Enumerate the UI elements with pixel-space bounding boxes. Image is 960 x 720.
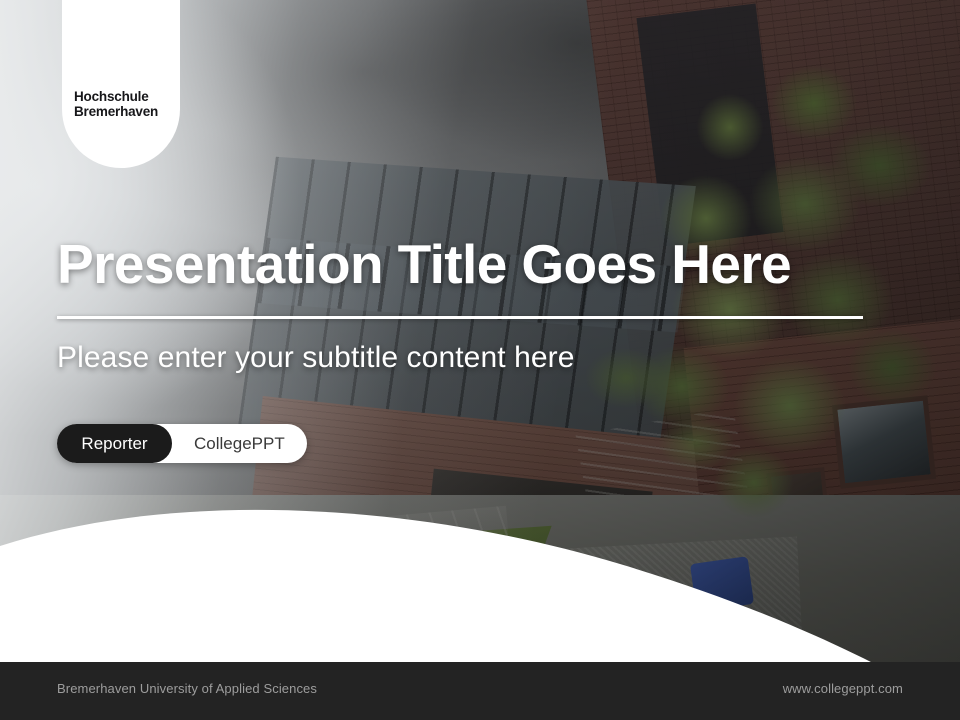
logo-line-1: Hochschule bbox=[74, 89, 174, 105]
page-subtitle: Please enter your subtitle content here bbox=[57, 341, 907, 375]
title-divider bbox=[57, 316, 863, 319]
title-block: Presentation Title Goes Here Please ente… bbox=[57, 236, 907, 375]
reporter-name-label[interactable]: CollegePPT bbox=[172, 424, 307, 463]
logo-wordmark: Hochschule Bremerhaven bbox=[74, 89, 174, 120]
presentation-slide: Hochschule Bremerhaven Presentation Titl… bbox=[0, 0, 960, 720]
footer-bar: Bremerhaven University of Applied Scienc… bbox=[0, 662, 960, 720]
reporter-badge[interactable]: Reporter CollegePPT bbox=[57, 424, 307, 463]
logo-line-2: Bremerhaven bbox=[74, 104, 174, 120]
university-logo: Hochschule Bremerhaven bbox=[62, 0, 180, 168]
footer-website[interactable]: www.collegeppt.com bbox=[783, 681, 903, 696]
footer-institution: Bremerhaven University of Applied Scienc… bbox=[57, 681, 317, 696]
page-title: Presentation Title Goes Here bbox=[57, 236, 907, 292]
reporter-role-label[interactable]: Reporter bbox=[57, 424, 172, 463]
